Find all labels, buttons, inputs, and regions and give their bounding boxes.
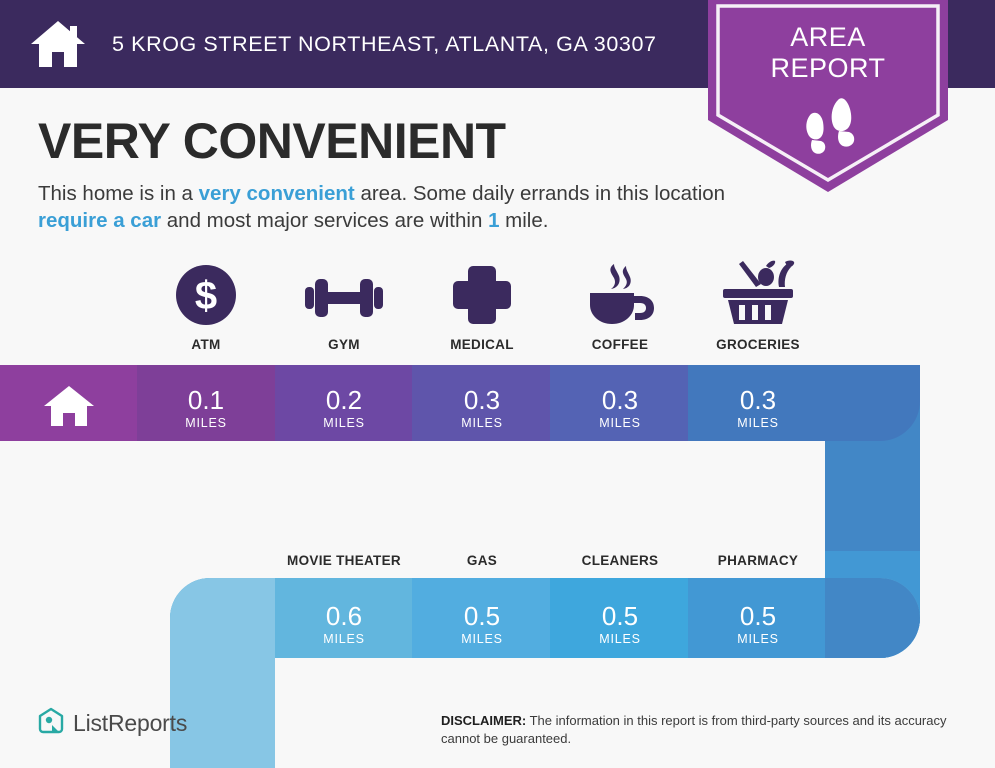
desc-part-4: mile. bbox=[499, 209, 548, 232]
listreports-wordmark: ListReports bbox=[73, 710, 187, 737]
distance-value: 0.5 bbox=[602, 603, 638, 630]
home-icon bbox=[43, 384, 95, 433]
distance-value: 0.3 bbox=[740, 387, 776, 414]
poi-label: MEDICAL bbox=[450, 337, 514, 352]
poi-label: COFFEE bbox=[592, 337, 649, 352]
disclaimer: DISCLAIMER: The information in this repo… bbox=[441, 712, 971, 747]
listreports-house-icon bbox=[38, 707, 64, 739]
distance-unit: MILES bbox=[323, 632, 365, 646]
poi-atm: $ ATM bbox=[137, 262, 275, 352]
distance-cell-cleaners: 0.5 MILES bbox=[551, 586, 689, 662]
distance-value: 0.5 bbox=[464, 603, 500, 630]
svg-text:$: $ bbox=[195, 274, 217, 318]
distance-row-primary: 0.1 MILES 0.2 MILES 0.3 MILES 0.3 MILES … bbox=[0, 370, 995, 446]
distance-unit: MILES bbox=[461, 416, 503, 430]
grocery-basket-icon bbox=[719, 262, 797, 326]
icon-row-primary: $ ATM GYM bbox=[0, 262, 995, 352]
desc-part-3: and most major services are within bbox=[161, 209, 488, 232]
desc-part-1: This home is in a bbox=[38, 182, 199, 205]
distance-value: 0.2 bbox=[326, 387, 362, 414]
desc-highlight-1: very convenient bbox=[199, 182, 355, 205]
poi-label: GYM bbox=[328, 337, 360, 352]
distance-value: 0.1 bbox=[188, 387, 224, 414]
area-report-infographic: 5 KROG STREET NORTHEAST, ATLANTA, GA 303… bbox=[0, 0, 995, 768]
desc-highlight-2: require a car bbox=[38, 209, 161, 232]
dollar-circle-icon: $ bbox=[175, 262, 237, 326]
distance-value: 0.6 bbox=[326, 603, 362, 630]
coffee-cup-icon bbox=[584, 262, 656, 326]
distance-cell-gas: 0.5 MILES bbox=[413, 586, 551, 662]
poi-label: GROCERIES bbox=[716, 337, 800, 352]
header-address: 5 KROG STREET NORTHEAST, ATLANTA, GA 303… bbox=[112, 32, 657, 57]
distance-unit: MILES bbox=[599, 416, 641, 430]
desc-highlight-3: 1 bbox=[488, 209, 499, 232]
home-icon bbox=[30, 18, 86, 70]
distance-cell-medical: 0.3 MILES bbox=[413, 370, 551, 446]
poi-label: ATM bbox=[191, 337, 220, 352]
home-marker bbox=[0, 370, 137, 446]
distance-value: 0.3 bbox=[464, 387, 500, 414]
listreports-logo: ListReports bbox=[38, 707, 187, 739]
ribbon-notch-top bbox=[0, 441, 825, 551]
distance-unit: MILES bbox=[599, 632, 641, 646]
distance-unit: MILES bbox=[737, 416, 779, 430]
description-text: This home is in a very convenient area. … bbox=[38, 180, 728, 234]
page-title: VERY CONVENIENT bbox=[38, 112, 506, 170]
distance-value: 0.3 bbox=[602, 387, 638, 414]
distance-cell-gym: 0.2 MILES bbox=[275, 370, 413, 446]
distance-unit: MILES bbox=[323, 416, 365, 430]
poi-medical: MEDICAL bbox=[413, 262, 551, 352]
poi-gym: GYM bbox=[275, 262, 413, 352]
distance-unit: MILES bbox=[461, 632, 503, 646]
distance-unit: MILES bbox=[737, 632, 779, 646]
desc-part-2: area. Some daily errands in this locatio… bbox=[355, 182, 725, 205]
distance-cell-movie-theater: 0.6 MILES bbox=[275, 586, 413, 662]
distance-cell-coffee: 0.3 MILES bbox=[551, 370, 689, 446]
distance-value: 0.5 bbox=[740, 603, 776, 630]
distance-cell-pharmacy: 0.5 MILES bbox=[689, 586, 827, 662]
distance-cell-groceries: 0.3 MILES bbox=[689, 370, 827, 446]
poi-coffee: COFFEE bbox=[551, 262, 689, 352]
dumbbell-icon bbox=[301, 262, 387, 326]
medical-cross-icon bbox=[451, 262, 513, 326]
poi-groceries: GROCERIES bbox=[689, 262, 827, 352]
distance-row-secondary: 0.6 MILES 0.5 MILES 0.5 MILES 0.5 MILES bbox=[0, 586, 995, 662]
distance-unit: MILES bbox=[185, 416, 227, 430]
area-report-badge: AREA REPORT bbox=[708, 0, 948, 192]
distance-cell-atm: 0.1 MILES bbox=[137, 370, 275, 446]
disclaimer-label: DISCLAIMER: bbox=[441, 713, 526, 728]
